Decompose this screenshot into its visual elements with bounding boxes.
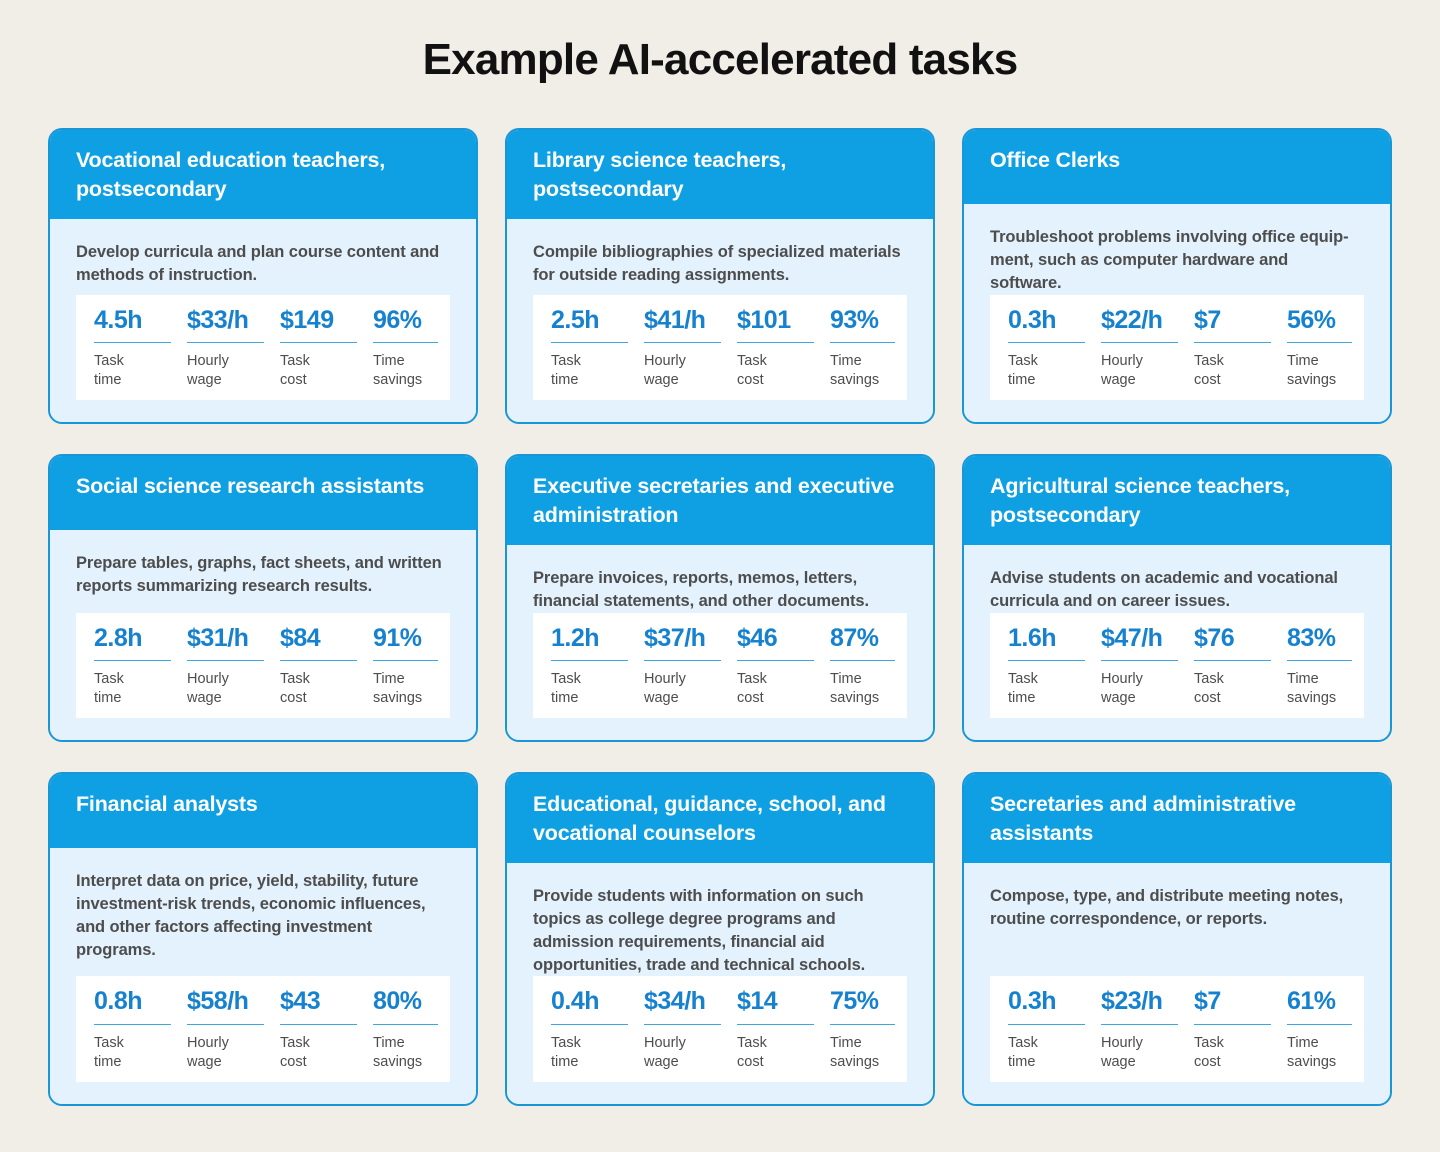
stat-label-task-cost: Task cost bbox=[1194, 1025, 1271, 1072]
task-card: Social science research assistants Prepa… bbox=[48, 454, 478, 742]
card-row-1: Vocational education teachers, postsecon… bbox=[48, 128, 1392, 424]
stat-label-task-time: Task time bbox=[1008, 343, 1085, 390]
stat-value-time-savings: 56% bbox=[1287, 307, 1352, 344]
card-task-description: Compile bibliographies of specialized ma… bbox=[533, 241, 907, 287]
stat-label-task-cost: Task cost bbox=[737, 343, 814, 390]
card-row-3: Financial analysts Interpret data on pri… bbox=[48, 772, 1392, 1106]
stat-time-savings: 75% Time savings bbox=[814, 988, 907, 1072]
stat-hourly-wage: $58/h Hourly wage bbox=[171, 988, 264, 1072]
stat-label-hourly-wage: Hourly wage bbox=[644, 343, 721, 390]
card-stats-table: 4.5h Task time $33/h Hourly wage $149 Ta… bbox=[76, 295, 450, 401]
stat-task-time: 0.4h Task time bbox=[533, 988, 628, 1072]
stat-label-time-savings: Time savings bbox=[830, 1025, 907, 1072]
stat-task-time: 4.5h Task time bbox=[76, 307, 171, 391]
stat-label-task-time: Task time bbox=[1008, 661, 1085, 708]
task-card: Educational, guidance, school, and vocat… bbox=[505, 772, 935, 1106]
stat-time-savings: 61% Time savings bbox=[1271, 988, 1364, 1072]
stat-label-time-savings: Time savings bbox=[830, 343, 907, 390]
task-card: Executive secretaries and executive admi… bbox=[505, 454, 935, 742]
stat-value-task-time: 0.3h bbox=[1008, 307, 1085, 344]
stat-time-savings: 87% Time savings bbox=[814, 625, 907, 709]
task-card: Financial analysts Interpret data on pri… bbox=[48, 772, 478, 1106]
stat-label-task-time: Task time bbox=[94, 661, 171, 708]
stat-hourly-wage: $41/h Hourly wage bbox=[628, 307, 721, 391]
card-occupation-title: Office Clerks bbox=[964, 130, 1390, 204]
stat-value-hourly-wage: $37/h bbox=[644, 625, 721, 662]
stat-value-task-cost: $43 bbox=[280, 988, 357, 1025]
stat-value-hourly-wage: $47/h bbox=[1101, 625, 1178, 662]
stat-label-task-time: Task time bbox=[1008, 1025, 1085, 1072]
card-task-description: Prepare invoices, reports, memos, letter… bbox=[533, 567, 907, 613]
card-body: Provide students with information on suc… bbox=[507, 863, 933, 1104]
card-occupation-title: Vocational education teachers, postsecon… bbox=[50, 130, 476, 219]
task-card: Agricultural science teachers, postsecon… bbox=[962, 454, 1392, 742]
stat-label-hourly-wage: Hourly wage bbox=[1101, 343, 1178, 390]
stat-task-cost: $7 Task cost bbox=[1178, 307, 1271, 391]
stat-label-hourly-wage: Hourly wage bbox=[644, 661, 721, 708]
stat-hourly-wage: $22/h Hourly wage bbox=[1085, 307, 1178, 391]
stat-value-time-savings: 96% bbox=[373, 307, 438, 344]
stat-task-time: 1.2h Task time bbox=[533, 625, 628, 709]
card-body: Troubleshoot problems involving office e… bbox=[964, 204, 1390, 422]
stat-label-task-time: Task time bbox=[551, 1025, 628, 1072]
stat-value-hourly-wage: $34/h bbox=[644, 988, 721, 1025]
card-stats-table: 0.3h Task time $22/h Hourly wage $7 Task… bbox=[990, 295, 1364, 401]
stat-value-time-savings: 87% bbox=[830, 625, 895, 662]
stat-label-task-cost: Task cost bbox=[280, 661, 357, 708]
stat-task-cost: $76 Task cost bbox=[1178, 625, 1271, 709]
card-stats-table: 1.2h Task time $37/h Hourly wage $46 Tas… bbox=[533, 613, 907, 719]
card-occupation-title: Secretaries and administrative assistant… bbox=[964, 774, 1390, 863]
stat-label-hourly-wage: Hourly wage bbox=[187, 343, 264, 390]
stat-label-hourly-wage: Hourly wage bbox=[187, 661, 264, 708]
card-body: Prepare tables, graphs, fact sheets, and… bbox=[50, 530, 476, 740]
stat-task-cost: $46 Task cost bbox=[721, 625, 814, 709]
stat-value-time-savings: 91% bbox=[373, 625, 438, 662]
card-body: Interpret data on price, yield, stabilit… bbox=[50, 848, 476, 1104]
stat-label-hourly-wage: Hourly wage bbox=[1101, 1025, 1178, 1072]
stat-hourly-wage: $47/h Hourly wage bbox=[1085, 625, 1178, 709]
stat-value-task-cost: $14 bbox=[737, 988, 814, 1025]
stat-value-task-time: 0.3h bbox=[1008, 988, 1085, 1025]
stat-task-cost: $84 Task cost bbox=[264, 625, 357, 709]
stat-value-task-cost: $101 bbox=[737, 307, 814, 344]
stat-value-task-time: 2.5h bbox=[551, 307, 628, 344]
stat-task-cost: $14 Task cost bbox=[721, 988, 814, 1072]
stat-label-task-cost: Task cost bbox=[280, 343, 357, 390]
stat-task-time: 0.8h Task time bbox=[76, 988, 171, 1072]
stat-value-hourly-wage: $22/h bbox=[1101, 307, 1178, 344]
stat-value-hourly-wage: $58/h bbox=[187, 988, 264, 1025]
stat-value-time-savings: 75% bbox=[830, 988, 895, 1025]
stat-time-savings: 83% Time savings bbox=[1271, 625, 1364, 709]
stat-label-task-cost: Task cost bbox=[1194, 661, 1271, 708]
stat-label-time-savings: Time savings bbox=[830, 661, 907, 708]
card-task-description: Advise students on academic and vocation… bbox=[990, 567, 1364, 613]
stat-task-cost: $43 Task cost bbox=[264, 988, 357, 1072]
stat-value-task-time: 2.8h bbox=[94, 625, 171, 662]
stat-value-time-savings: 80% bbox=[373, 988, 438, 1025]
stat-label-task-time: Task time bbox=[94, 1025, 171, 1072]
stat-task-time: 0.3h Task time bbox=[990, 988, 1085, 1072]
card-occupation-title: Executive secretaries and executive admi… bbox=[507, 456, 933, 545]
card-task-description: Troubleshoot problems involving office e… bbox=[990, 226, 1364, 294]
card-occupation-title: Library science teachers, postsecondary bbox=[507, 130, 933, 219]
stat-value-task-cost: $46 bbox=[737, 625, 814, 662]
stat-label-task-time: Task time bbox=[551, 343, 628, 390]
stat-label-task-cost: Task cost bbox=[280, 1025, 357, 1072]
stat-value-hourly-wage: $41/h bbox=[644, 307, 721, 344]
stat-value-task-cost: $7 bbox=[1194, 307, 1271, 344]
card-body: Advise students on academic and vocation… bbox=[964, 545, 1390, 740]
stat-label-time-savings: Time savings bbox=[1287, 343, 1364, 390]
stat-label-hourly-wage: Hourly wage bbox=[644, 1025, 721, 1072]
stat-task-cost: $7 Task cost bbox=[1178, 988, 1271, 1072]
stat-task-cost: $149 Task cost bbox=[264, 307, 357, 391]
card-stats-table: 2.8h Task time $31/h Hourly wage $84 Tas… bbox=[76, 613, 450, 719]
stat-time-savings: 91% Time savings bbox=[357, 625, 450, 709]
stat-label-hourly-wage: Hourly wage bbox=[187, 1025, 264, 1072]
stat-label-task-cost: Task cost bbox=[737, 1025, 814, 1072]
card-stats-table: 0.4h Task time $34/h Hourly wage $14 Tas… bbox=[533, 976, 907, 1082]
stat-value-task-cost: $149 bbox=[280, 307, 357, 344]
stat-label-time-savings: Time savings bbox=[1287, 1025, 1364, 1072]
card-occupation-title: Financial analysts bbox=[50, 774, 476, 848]
stat-label-task-cost: Task cost bbox=[737, 661, 814, 708]
stat-value-time-savings: 61% bbox=[1287, 988, 1352, 1025]
page-title: Example AI-accelerated tasks bbox=[0, 0, 1440, 84]
stat-hourly-wage: $23/h Hourly wage bbox=[1085, 988, 1178, 1072]
stat-label-hourly-wage: Hourly wage bbox=[1101, 661, 1178, 708]
stat-value-task-cost: $76 bbox=[1194, 625, 1271, 662]
stat-label-time-savings: Time savings bbox=[373, 343, 450, 390]
card-occupation-title: Social science research assistants bbox=[50, 456, 476, 530]
stat-task-cost: $101 Task cost bbox=[721, 307, 814, 391]
task-card: Vocational education teachers, postsecon… bbox=[48, 128, 478, 424]
stat-value-task-time: 1.6h bbox=[1008, 625, 1085, 662]
stat-label-task-time: Task time bbox=[94, 343, 171, 390]
card-occupation-title: Agricultural science teachers, postsecon… bbox=[964, 456, 1390, 545]
stat-label-time-savings: Time savings bbox=[373, 661, 450, 708]
card-row-2: Social science research assistants Prepa… bbox=[48, 454, 1392, 742]
stat-label-time-savings: Time savings bbox=[373, 1025, 450, 1072]
stat-hourly-wage: $33/h Hourly wage bbox=[171, 307, 264, 391]
card-task-description: Provide students with information on suc… bbox=[533, 885, 907, 976]
stat-value-task-time: 1.2h bbox=[551, 625, 628, 662]
stat-task-time: 2.5h Task time bbox=[533, 307, 628, 391]
card-stats-table: 1.6h Task time $47/h Hourly wage $76 Tas… bbox=[990, 613, 1364, 719]
card-body: Develop curricula and plan course conten… bbox=[50, 219, 476, 422]
card-body: Compose, type, and distribute meeting no… bbox=[964, 863, 1390, 1104]
card-task-description: Prepare tables, graphs, fact sheets, and… bbox=[76, 552, 450, 598]
stat-value-hourly-wage: $31/h bbox=[187, 625, 264, 662]
stat-value-time-savings: 93% bbox=[830, 307, 895, 344]
card-stats-table: 0.3h Task time $23/h Hourly wage $7 Task… bbox=[990, 976, 1364, 1082]
stat-hourly-wage: $34/h Hourly wage bbox=[628, 988, 721, 1072]
stat-hourly-wage: $37/h Hourly wage bbox=[628, 625, 721, 709]
task-card: Library science teachers, postsecondary … bbox=[505, 128, 935, 424]
stat-value-task-time: 0.4h bbox=[551, 988, 628, 1025]
card-occupation-title: Educational, guidance, school, and vocat… bbox=[507, 774, 933, 863]
card-task-description: Interpret data on price, yield, stabilit… bbox=[76, 870, 450, 961]
stat-value-task-cost: $7 bbox=[1194, 988, 1271, 1025]
stat-value-task-time: 0.8h bbox=[94, 988, 171, 1025]
stat-time-savings: 93% Time savings bbox=[814, 307, 907, 391]
stat-time-savings: 80% Time savings bbox=[357, 988, 450, 1072]
card-body: Compile bibliographies of specialized ma… bbox=[507, 219, 933, 422]
card-grid: Vocational education teachers, postsecon… bbox=[24, 128, 1416, 1106]
task-card: Office Clerks Troubleshoot problems invo… bbox=[962, 128, 1392, 424]
card-body: Prepare invoices, reports, memos, letter… bbox=[507, 545, 933, 740]
stat-label-task-cost: Task cost bbox=[1194, 343, 1271, 390]
task-card: Secretaries and administrative assistant… bbox=[962, 772, 1392, 1106]
stat-label-task-time: Task time bbox=[551, 661, 628, 708]
card-stats-table: 2.5h Task time $41/h Hourly wage $101 Ta… bbox=[533, 295, 907, 401]
stat-value-hourly-wage: $23/h bbox=[1101, 988, 1178, 1025]
card-stats-table: 0.8h Task time $58/h Hourly wage $43 Tas… bbox=[76, 976, 450, 1082]
stat-task-time: 2.8h Task time bbox=[76, 625, 171, 709]
stat-hourly-wage: $31/h Hourly wage bbox=[171, 625, 264, 709]
stat-value-task-cost: $84 bbox=[280, 625, 357, 662]
stat-task-time: 1.6h Task time bbox=[990, 625, 1085, 709]
card-task-description: Compose, type, and distribute meeting no… bbox=[990, 885, 1364, 931]
stat-label-time-savings: Time savings bbox=[1287, 661, 1364, 708]
stat-task-time: 0.3h Task time bbox=[990, 307, 1085, 391]
stat-time-savings: 96% Time savings bbox=[357, 307, 450, 391]
stat-value-hourly-wage: $33/h bbox=[187, 307, 264, 344]
card-task-description: Develop curricula and plan course conten… bbox=[76, 241, 450, 287]
infographic-page: Example AI-accelerated tasks Vocational … bbox=[0, 0, 1440, 1152]
stat-time-savings: 56% Time savings bbox=[1271, 307, 1364, 391]
stat-value-time-savings: 83% bbox=[1287, 625, 1352, 662]
stat-value-task-time: 4.5h bbox=[94, 307, 171, 344]
